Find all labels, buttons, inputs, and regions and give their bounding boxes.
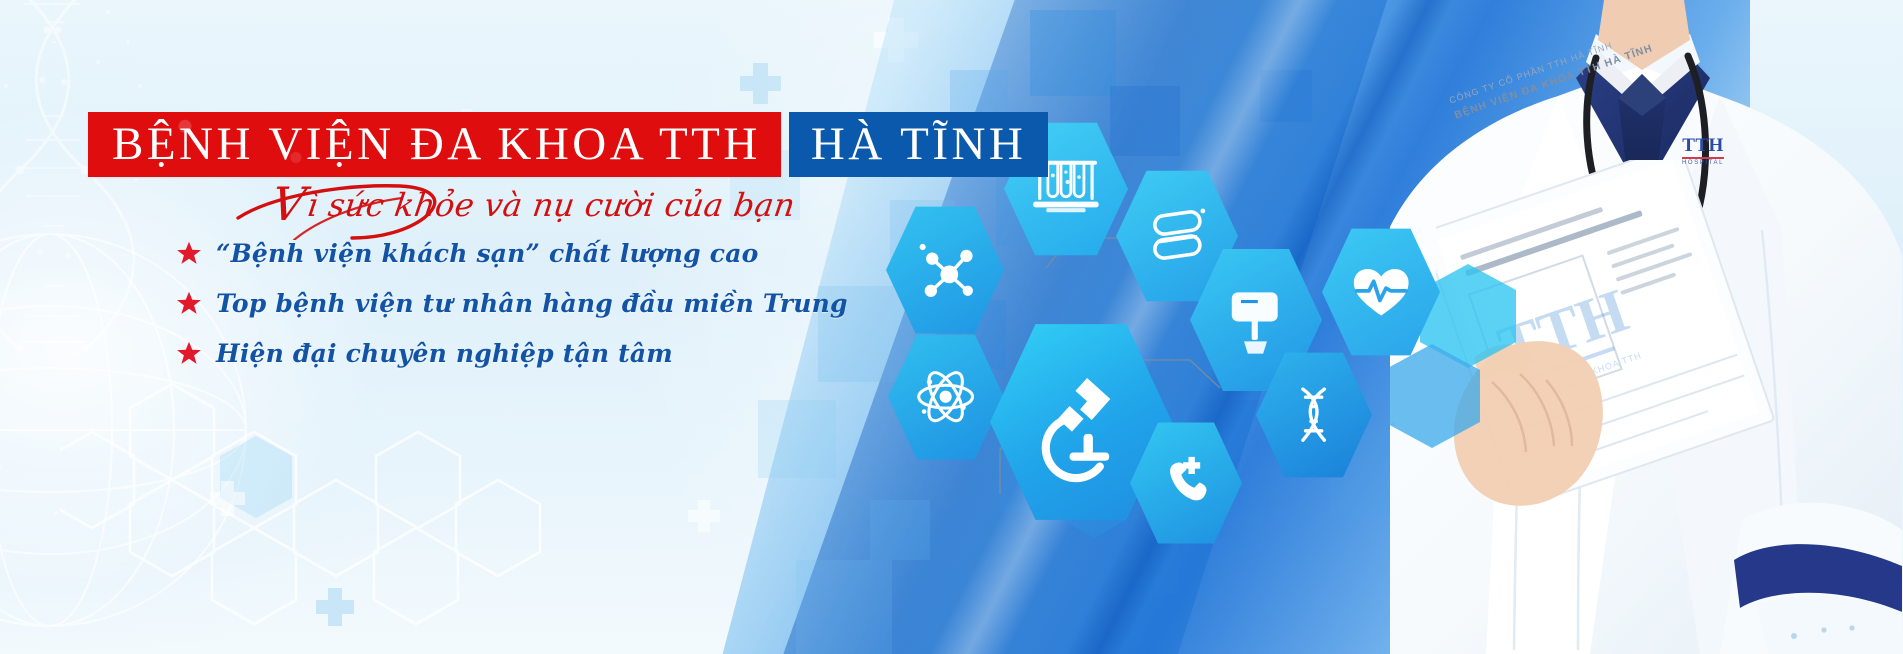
tth-hospital-logo: TTH HOSPITAL bbox=[1682, 136, 1724, 166]
list-item-label: “Bệnh viện khách sạn” chất lượng cao bbox=[216, 239, 758, 268]
star-icon bbox=[176, 340, 202, 366]
hospital-name-block: BỆNH VIỆN ĐA KHOA TTH bbox=[88, 112, 781, 177]
hospital-name: BỆNH VIỆN ĐA KHOA TTH bbox=[112, 121, 761, 168]
list-item-label: Hiện đại chuyên nghiệp tận tâm bbox=[216, 339, 673, 368]
tagline-lead-letter: V bbox=[268, 177, 309, 231]
microscope-glyph bbox=[1023, 357, 1139, 488]
list-item: Top bệnh viện tư nhân hàng đầu miền Trun… bbox=[176, 278, 848, 328]
star-icon bbox=[176, 290, 202, 316]
promotional-banner: TTH BỆNH VIỆN ĐA KHOA TTH CÔNG TY CỔ PHẦ… bbox=[0, 0, 1903, 654]
star-icon bbox=[176, 240, 202, 266]
logo-subtitle: HOSPITAL bbox=[1682, 160, 1724, 166]
province-name: HÀ TĨNH bbox=[811, 121, 1027, 168]
province-name-block: HÀ TĨNH bbox=[789, 112, 1049, 177]
list-item-label: Top bệnh viện tư nhân hàng đầu miền Trun… bbox=[216, 289, 848, 318]
heartbeat-glyph bbox=[1347, 254, 1415, 331]
feature-list: “Bệnh viện khách sạn” chất lượng cao Top… bbox=[176, 228, 848, 378]
logo-divider bbox=[1682, 157, 1724, 159]
list-item: Hiện đại chuyên nghiệp tận tâm bbox=[176, 328, 848, 378]
iv-drip-glyph bbox=[1218, 277, 1295, 363]
logo-mark: TTH bbox=[1682, 136, 1724, 155]
medical-icon-cluster bbox=[860, 120, 1480, 540]
atom-glyph bbox=[912, 359, 979, 434]
capsule-glyph bbox=[1142, 197, 1213, 276]
dna-glyph bbox=[1280, 377, 1347, 452]
list-item: “Bệnh viện khách sạn” chất lượng cao bbox=[176, 228, 848, 278]
tagline-rest: ì sức khỏe và nụ cười của bạn bbox=[305, 186, 798, 224]
tagline: Vì sức khỏe và nụ cười của bạn bbox=[269, 184, 798, 225]
molecule-glyph bbox=[911, 232, 979, 309]
banner-title-row: BỆNH VIỆN ĐA KHOA TTH HÀ TĨNH bbox=[88, 112, 1048, 177]
hexagon-pattern-decoration bbox=[60, 370, 620, 654]
phone-cross-glyph bbox=[1154, 446, 1219, 519]
